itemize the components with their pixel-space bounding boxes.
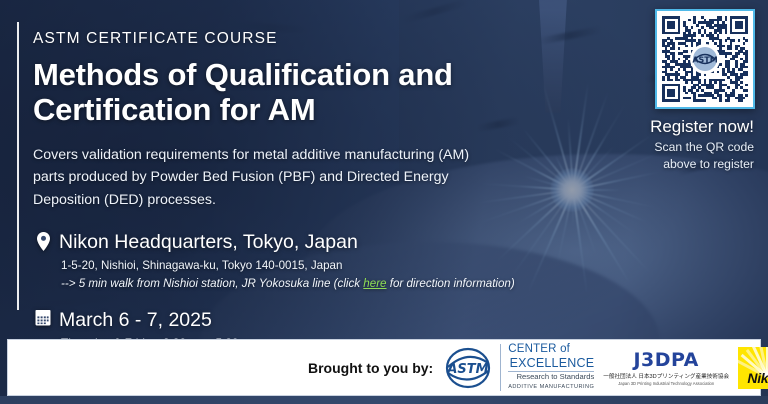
- calendar-icon: [33, 310, 53, 326]
- course-description: Covers validation requirements for metal…: [33, 144, 503, 211]
- venue-directions: --> 5 min walk from Nishioi station, JR …: [59, 275, 515, 292]
- nikon-logo[interactable]: Nikon: [738, 347, 768, 389]
- left-accent-rule: [17, 22, 19, 310]
- directions-prefix: --> 5 min walk from Nishioi station, JR …: [61, 277, 363, 290]
- jsdpa-name-en: Japan 3D Printing Industrial Technology …: [603, 381, 729, 386]
- sponsor-logos: ASTM CENTER of EXCELLENCE Research to St…: [445, 344, 752, 390]
- center-of-excellence-logo[interactable]: CENTER of EXCELLENCE Research to Standar…: [500, 344, 594, 390]
- qr-code-matrix: ASTM: [662, 16, 748, 102]
- coe-line-2: EXCELLENCE: [508, 357, 594, 370]
- astm-logo: ASTM: [690, 44, 720, 74]
- venue-name: Nikon Headquarters, Tokyo, Japan: [59, 232, 515, 252]
- jsdpa-logo[interactable]: J3DPA 一般社団法人 日本3Dプリンティング産業技術協会 Japan 3D …: [603, 349, 729, 386]
- title-line-1: Methods of Qualification and: [33, 57, 593, 92]
- coe-tagline: Research to Standards: [508, 371, 594, 381]
- svg-text:ASTM: ASTM: [447, 362, 489, 377]
- astm-logo[interactable]: ASTM: [445, 347, 491, 389]
- jsdpa-name-jp: 一般社団法人 日本3Dプリンティング産業技術協会: [603, 372, 729, 380]
- register-headline: Register now!: [604, 117, 754, 137]
- map-pin-icon: [33, 232, 53, 251]
- coe-line-1: CENTER of: [508, 344, 594, 356]
- course-kicker: ASTM CERTIFICATE COURSE: [33, 30, 593, 49]
- register-instruction: Scan the QR code above to register: [594, 139, 754, 174]
- venue-address: 1-5-20, Nishioi, Shinagawa-ku, Tokyo 140…: [59, 257, 515, 274]
- bottom-strip: [0, 396, 768, 404]
- register-instruction-line-2: above to register: [594, 156, 754, 173]
- banner-content: ASTM CERTIFICATE COURSE Methods of Quali…: [33, 30, 593, 352]
- event-banner: ASTM CERTIFICATE COURSE Methods of Quali…: [0, 0, 768, 404]
- coe-subtitle: ADDITIVE MANUFACTURING: [508, 385, 594, 391]
- venue-block: Nikon Headquarters, Tokyo, Japan 1-5-20,…: [33, 232, 593, 292]
- directions-link[interactable]: here: [363, 277, 386, 290]
- event-date-range: March 6 - 7, 2025: [59, 310, 255, 330]
- page-title: Methods of Qualification and Certificati…: [33, 57, 593, 127]
- nikon-wordmark: Nikon: [747, 370, 768, 389]
- brought-to-you-by-label: Brought to you by:: [308, 360, 433, 376]
- register-instruction-line-1: Scan the QR code: [594, 139, 754, 156]
- title-line-2: Certification for AM: [33, 92, 593, 127]
- jsdpa-wordmark: J3DPA: [603, 349, 729, 371]
- qr-code[interactable]: ASTM: [655, 9, 755, 109]
- sponsor-footer: Brought to you by: ASTM CENTER of EXCELL…: [7, 339, 761, 396]
- directions-suffix: for direction information): [387, 277, 515, 290]
- svg-text:ASTM: ASTM: [692, 56, 717, 65]
